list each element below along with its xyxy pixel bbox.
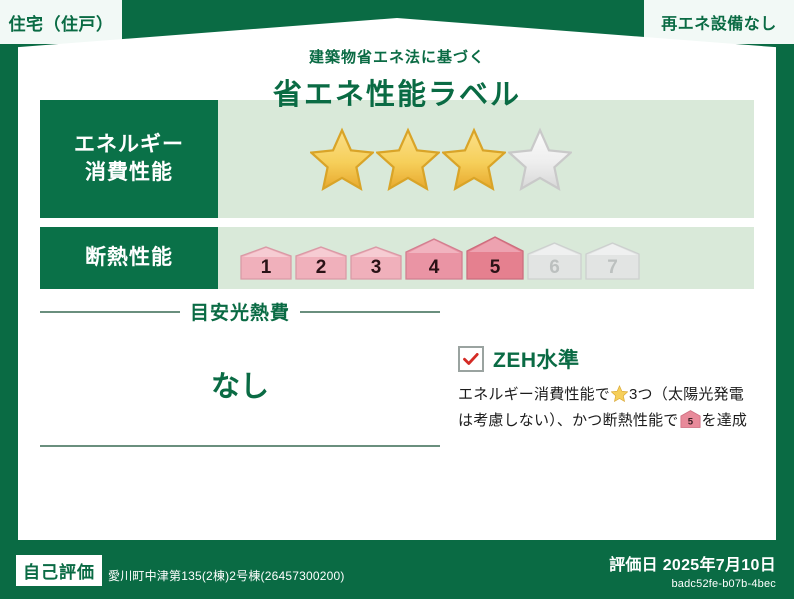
footer-left: 自己評価 愛川町中津第135(2棟)2号棟(26457300200) [16, 555, 345, 586]
utility-cost-heading-text: 目安光熱費 [190, 298, 290, 325]
star-icon-filled [310, 127, 374, 191]
zeh-description: エネルギー消費性能で3つ（太陽光発電は考慮しない）、かつ断熱性能で5を達成 [458, 383, 754, 436]
cost-and-zeh-area: 目安光熱費 なし ZEH水準 エネルギー消費性能で3つ（太陽光発電は考慮しな [40, 298, 754, 447]
energy-performance-row: エネルギー 消費性能 [40, 100, 754, 218]
energy-label-line2: 消費性能 [74, 159, 184, 187]
insulation-grade-6: 6 [527, 242, 582, 280]
zeh-heading: ZEH水準 [458, 344, 754, 374]
insulation-grade-2: 2 [295, 246, 347, 280]
heading-rule-right [300, 311, 440, 313]
energy-label-line1: エネルギー [74, 131, 184, 159]
insulation-performance-row: 断熱性能 1234567 [40, 227, 754, 289]
label-body-panel: エネルギー 消費性能 断熱性能 1234567 目安光熱費 [18, 78, 776, 537]
zeh-desc-star-count: 3つ（太陽光発電 [629, 386, 744, 403]
star-icon-inline [611, 385, 628, 409]
badge-renewable-energy: 再エネ設備なし [644, 0, 794, 44]
heading-rule-left [40, 311, 180, 313]
insulation-label-text: 断熱性能 [85, 244, 173, 272]
insulation-grade-5: 5 [466, 236, 524, 280]
footer-divider [18, 537, 776, 540]
badge-building-type-label: 住宅（住戸） [9, 10, 114, 35]
header-subtitle: 建築物省エネ法に基づく [0, 46, 794, 67]
insulation-grade-1: 1 [240, 246, 292, 280]
zeh-desc-part1: エネルギー消費性能で [458, 386, 610, 403]
utility-cost-bottom-rule [40, 445, 440, 447]
insulation-performance-label: 断熱性能 [40, 227, 218, 289]
evaluation-date: 評価日 2025年7月10日 [609, 551, 776, 575]
star-icon-filled [376, 127, 440, 191]
svg-text:1: 1 [261, 257, 272, 278]
insulation-grade-scale: 1234567 [240, 236, 640, 280]
utility-cost-heading: 目安光熱費 [40, 298, 440, 325]
footer-right: 評価日 2025年7月10日 badc52fe-b07b-4bec [609, 551, 776, 590]
zeh-title: ZEH水準 [493, 344, 580, 374]
svg-text:3: 3 [371, 257, 382, 278]
insulation-grade-4: 4 [405, 238, 463, 280]
insulation-grade-3: 3 [350, 246, 402, 280]
badge-building-type: 住宅（住戸） [0, 0, 122, 44]
zeh-block: ZEH水準 エネルギー消費性能で3つ（太陽光発電は考慮しない）、かつ断熱性能で5… [440, 298, 754, 447]
star-icon-filled [442, 127, 506, 191]
utility-cost-value: なし [40, 331, 440, 445]
zeh-checkbox[interactable] [458, 346, 484, 372]
svg-text:4: 4 [429, 257, 440, 278]
label-header: 建築物省エネ法に基づく 省エネ性能ラベル [0, 46, 794, 113]
zeh-desc-part3: を達成 [702, 412, 748, 429]
svg-text:5: 5 [687, 417, 693, 428]
label-footer: 自己評価 愛川町中津第135(2棟)2号棟(26457300200) 評価日 2… [0, 537, 794, 599]
check-icon [463, 353, 479, 366]
svg-text:2: 2 [316, 257, 327, 278]
svg-text:7: 7 [607, 257, 618, 278]
badge-renewable-energy-label: 再エネ設備なし [661, 10, 777, 34]
star-icon-empty [508, 127, 572, 191]
house-grade-icon-inline: 5 [680, 410, 701, 435]
svg-text:5: 5 [490, 257, 501, 278]
utility-cost-block: 目安光熱費 なし [40, 298, 440, 447]
self-evaluation-badge: 自己評価 [16, 555, 102, 586]
property-address: 愛川町中津第135(2棟)2号棟(26457300200) [108, 567, 345, 586]
insulation-performance-value: 1234567 [218, 227, 754, 289]
zeh-desc-part2: は考慮しない）、かつ断熱性能で [458, 412, 679, 429]
star-rating [310, 127, 572, 191]
insulation-grade-7: 7 [585, 242, 640, 280]
energy-performance-value [218, 100, 754, 218]
svg-text:6: 6 [549, 257, 560, 278]
page-title: 省エネ性能ラベル [0, 71, 794, 113]
label-hash-id: badc52fe-b07b-4bec [609, 578, 776, 590]
energy-performance-label: エネルギー 消費性能 [40, 100, 218, 218]
